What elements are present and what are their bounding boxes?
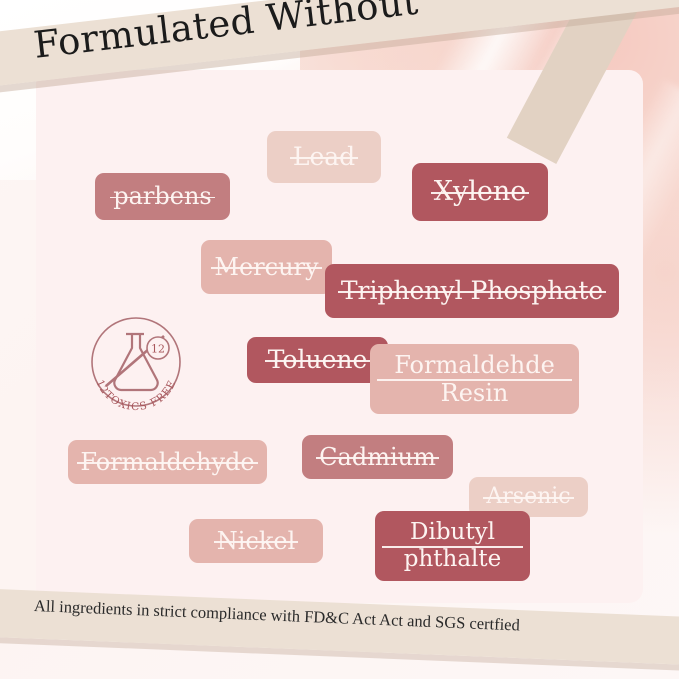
ingredient-label: Cadmium <box>319 443 436 471</box>
ingredient-label: Formaldehyde <box>80 448 254 476</box>
badge-caption: 12TOXICS FREE <box>93 378 178 413</box>
ingredient-label: Formaldehde Resin <box>380 351 569 408</box>
ingredient-pill: Mercury <box>201 240 332 294</box>
badge-number: 12 <box>151 343 165 356</box>
ingredient-pill: Formaldehde Resin <box>370 344 579 414</box>
poster-canvas: Formulated Without 12 12TOXICS FREE Lead… <box>0 0 679 679</box>
ingredient-pill: Lead <box>267 131 381 183</box>
ingredient-pill: parbens <box>95 173 230 220</box>
ingredient-pill: Triphenyl Phosphate <box>325 264 619 318</box>
ingredient-pill: Formaldehyde <box>68 440 267 484</box>
ingredient-label: parbens <box>113 182 211 210</box>
twelve-toxics-free-badge: 12 12TOXICS FREE <box>82 312 190 420</box>
ingredient-pill: Toluene <box>247 337 388 383</box>
ingredient-label: Mercury <box>214 253 318 281</box>
ingredient-pill: Nickel <box>189 519 323 563</box>
ingredient-pill: Xylene <box>412 163 548 221</box>
ingredient-label: Nickel <box>217 527 296 555</box>
ingredient-label: Arsenic <box>486 484 570 510</box>
ingredient-label: Xylene <box>434 176 526 208</box>
ingredient-pill: Dibutyl phthalte <box>375 511 530 581</box>
ingredient-label: Triphenyl Phosphate <box>341 276 603 306</box>
ingredient-label: Lead <box>293 142 355 172</box>
ingredient-pill: Cadmium <box>302 435 453 479</box>
no-flask-icon: 12 12TOXICS FREE <box>82 312 190 420</box>
ingredient-label: Toluene <box>268 345 368 375</box>
ingredient-label: Dibutyl phthalte <box>385 519 520 573</box>
